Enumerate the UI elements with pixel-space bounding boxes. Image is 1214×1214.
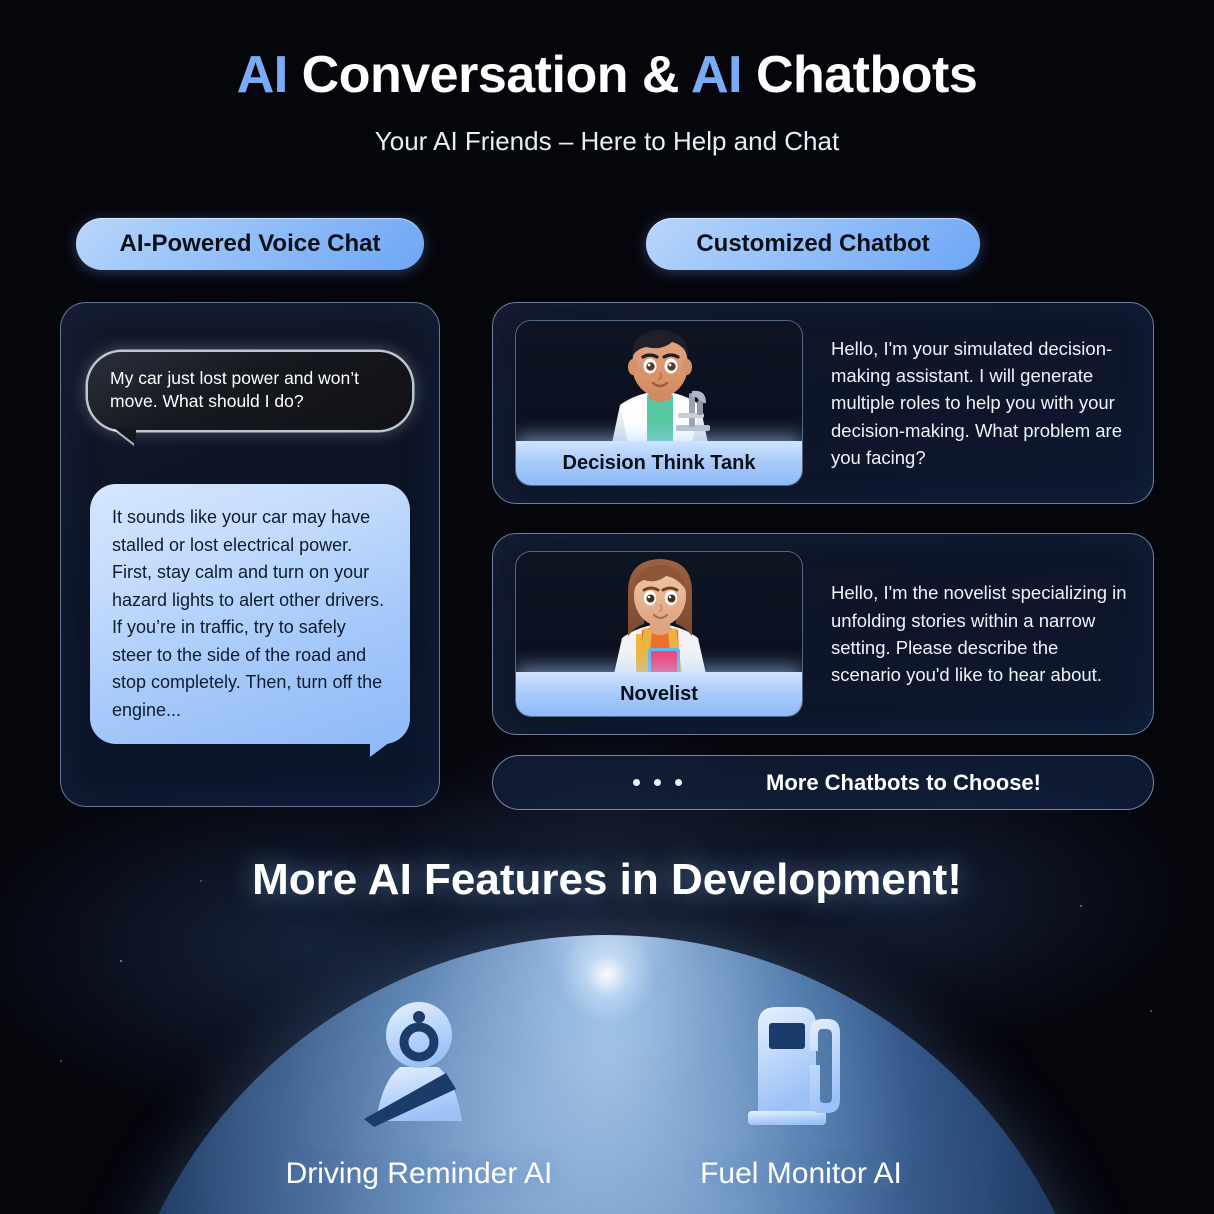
- chat-bubble-ai: It sounds like your car may have stalled…: [90, 484, 410, 744]
- section-badge-voice-chat[interactable]: AI-Powered Voice Chat: [76, 218, 424, 270]
- section-badge-customized-chatbot[interactable]: Customized Chatbot: [646, 218, 980, 270]
- more-chatbots-row[interactable]: More Chatbots to Choose!: [492, 755, 1154, 810]
- ellipsis-dots-icon: [633, 779, 682, 786]
- feature-label: Driving Reminder AI: [286, 1157, 553, 1191]
- star: [1080, 905, 1082, 907]
- feature-driving-reminder[interactable]: Driving Reminder AI: [246, 995, 592, 1191]
- chatbot-message: Hello, I'm your simulated decision-makin…: [803, 335, 1153, 472]
- scientist-avatar: [516, 321, 802, 441]
- chatbot-message: Hello, I'm the novelist specializing in …: [803, 579, 1153, 689]
- dot-icon: [633, 779, 640, 786]
- avatar-frame: Novelist: [515, 551, 803, 717]
- title-part-1: Conversation &: [288, 46, 691, 104]
- novelist-avatar: [516, 552, 802, 672]
- feature-label: Fuel Monitor AI: [700, 1157, 902, 1191]
- avatar-frame: Decision Think Tank: [515, 320, 803, 486]
- chatbot-card[interactable]: Decision Think Tank Hello, I'm your simu…: [492, 302, 1154, 504]
- more-chatbots-label: More Chatbots to Choose!: [682, 770, 1125, 796]
- fuel-pump-icon: [736, 995, 866, 1127]
- star: [60, 1060, 62, 1062]
- page-title: AI Conversation & AI Chatbots: [0, 46, 1214, 104]
- page-subtitle: Your AI Friends – Here to Help and Chat: [0, 126, 1214, 157]
- title-accent-ai-2: AI: [691, 46, 742, 104]
- page-header: AI Conversation & AI Chatbots Your AI Fr…: [0, 0, 1214, 157]
- feature-fuel-monitor[interactable]: Fuel Monitor AI: [628, 995, 974, 1191]
- driver-seatbelt-icon: [354, 995, 484, 1127]
- star: [1150, 1010, 1152, 1012]
- title-accent-ai-1: AI: [237, 46, 288, 104]
- scientist-avatar-icon: [516, 321, 802, 441]
- title-part-2: Chatbots: [742, 46, 977, 104]
- chat-bubble-user: My car just lost power and won’t move. W…: [88, 352, 412, 430]
- avatar-name-label: Decision Think Tank: [516, 441, 802, 485]
- star: [120, 960, 122, 962]
- development-section-title: More AI Features in Development!: [0, 855, 1214, 905]
- dot-icon: [675, 779, 682, 786]
- dot-icon: [654, 779, 661, 786]
- novelist-avatar-icon: [516, 552, 802, 672]
- avatar-name-label: Novelist: [516, 672, 802, 716]
- chatbot-card[interactable]: Novelist Hello, I'm the novelist special…: [492, 533, 1154, 735]
- promo-page: AI Conversation & AI Chatbots Your AI Fr…: [0, 0, 1214, 1214]
